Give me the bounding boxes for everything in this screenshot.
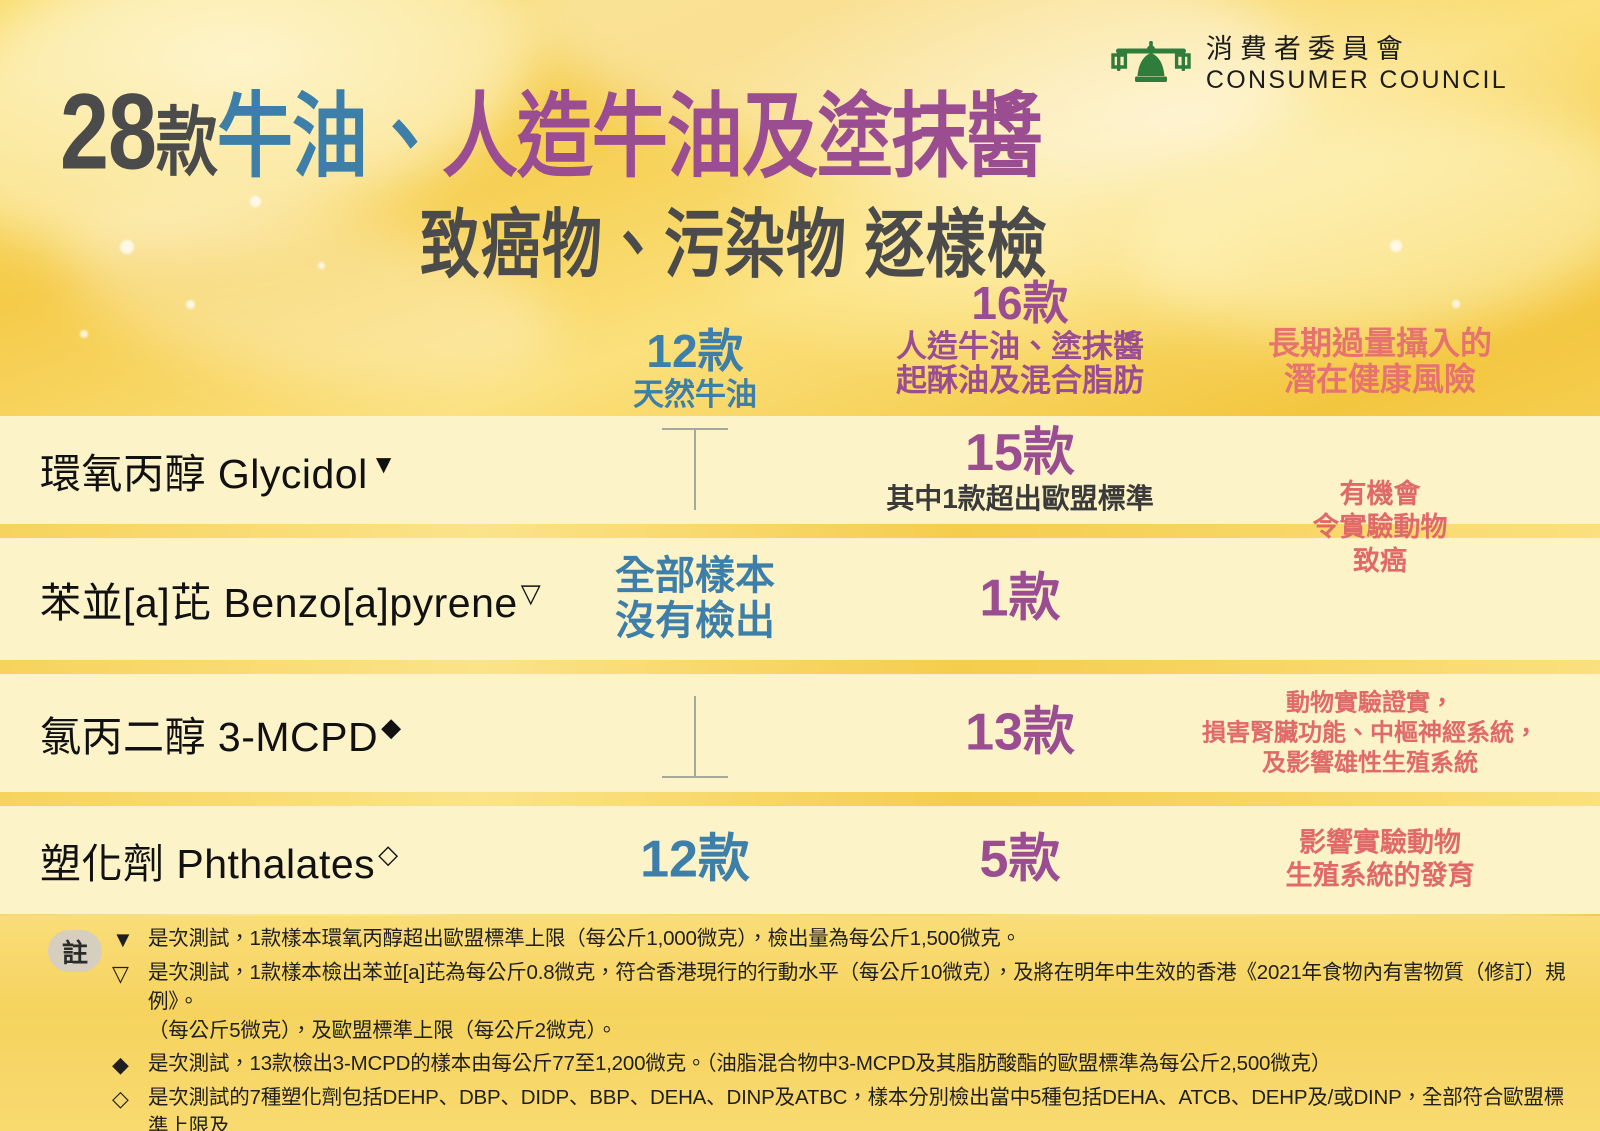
cell-margarine-benzo: 1款 xyxy=(820,570,1220,627)
footnote-text: 是次測試，13款檢出3-MCPD的樣本由每公斤77至1,200微克。（油脂混合物… xyxy=(148,1049,1331,1078)
footnote-marker-filled-diamond-icon: ◆ xyxy=(381,712,402,742)
row-label-text: 環氧丙醇 Glycidol xyxy=(40,451,368,497)
table-row: 氯丙二醇 3-MCPD◆ 13款 動物實驗證實， 損害腎臟功能、中樞神經系統， … xyxy=(0,674,1600,792)
infographic-poster: 消費者委員會 CONSUMER COUNCIL 28款牛油、人造牛油及塗抹醬 致… xyxy=(0,0,1600,1131)
column-header-natural-butter: 12款 天然牛油 xyxy=(560,326,830,412)
sample-count-unit: 款 xyxy=(156,101,217,185)
cell-value: 12款 xyxy=(560,831,830,888)
risk-line-2: 損害腎臟功能、中樞神經系統， xyxy=(1155,718,1585,748)
risk-cell-carcinogen: 有機會 令實驗動物 致癌 xyxy=(1215,478,1545,578)
table-row: 塑化劑 Phthalates◇ 12款 5款 影響實驗動物 生殖系統的發育 xyxy=(0,806,1600,914)
column-header-label-line1: 人造牛油、塗抹醬 xyxy=(820,330,1220,365)
footnote-text: 是次測試，1款樣本環氧丙醇超出歐盟標準上限（每公斤1,000微克），檢出量為每公… xyxy=(148,924,1021,953)
cell-note: 其中1款超出歐盟標準 xyxy=(820,484,1220,515)
list-item: ◇ 是次測試的7種塑化劑包括DEHP、DBP、DIDP、BBP、DEHA、DIN… xyxy=(112,1083,1584,1131)
row-label-glycidol: 環氧丙醇 Glycidol▼ xyxy=(40,440,397,500)
texture-speck xyxy=(1390,240,1402,252)
column-header-count: 16款 xyxy=(820,278,1220,330)
row-label-benzo-a-pyrene: 苯並[a]芘 Benzo[a]pyrene▽ xyxy=(40,569,541,629)
column-headers: 12款 天然牛油 16款 人造牛油、塗抹醬 起酥油及混合脂肪 長期過量攝入的 潛… xyxy=(0,268,1600,416)
footnote-symbol-open-triangle-icon: ▽ xyxy=(112,958,148,989)
column-header-label-line2: 起酥油及混合脂肪 xyxy=(820,364,1220,399)
not-tested-marker-inverted-t-icon xyxy=(687,696,703,778)
footnote-text: 是次測試，1款樣本檢出苯並[a]芘為每公斤0.8微克，符合香港現行的行動水平（每… xyxy=(148,958,1584,1045)
footnote-badge: 註 xyxy=(48,930,102,972)
column-header-margarine-spread: 16款 人造牛油、塗抹醬 起酥油及混合脂肪 xyxy=(820,278,1220,399)
row-label-text: 氯丙二醇 3-MCPD xyxy=(40,714,378,760)
column-header-health-risk: 長期過量攝入的 潛在健康風險 xyxy=(1215,326,1545,398)
row-label-3-mcpd: 氯丙二醇 3-MCPD◆ xyxy=(40,703,402,763)
footnote-text-line1: 是次測試，13款檢出3-MCPD的樣本由每公斤77至1,200微克。（油脂混合物… xyxy=(148,1052,1331,1075)
risk-line-3: 及影響雄性生殖系統 xyxy=(1155,748,1585,778)
footnote-list: ▼ 是次測試，1款樣本環氧丙醇超出歐盟標準上限（每公斤1,000微克），檢出量為… xyxy=(112,924,1584,1131)
footnote-marker-filled-triangle-icon: ▼ xyxy=(371,449,397,479)
not-tested-marker-t-icon xyxy=(687,428,703,510)
brand-text: 消費者委員會 CONSUMER COUNCIL xyxy=(1206,36,1508,93)
cell-butter-benzo: 全部樣本 沒有檢出 xyxy=(560,554,830,644)
cell-margarine-phthalates: 5款 xyxy=(820,831,1220,888)
brand-logo: 消費者委員會 CONSUMER COUNCIL xyxy=(1110,36,1508,93)
row-label-phthalates: 塑化劑 Phthalates◇ xyxy=(40,830,399,890)
footnote-text: 是次測試的7種塑化劑包括DEHP、DBP、DIDP、BBP、DEHA、DINP及… xyxy=(148,1083,1584,1131)
headline-category-butter: 牛油、 xyxy=(217,85,442,189)
risk-line-3: 致癌 xyxy=(1215,545,1545,578)
footnote-text-line1: 是次測試，1款樣本檢出苯並[a]芘為每公斤0.8微克，符合香港現行的行動水平（每… xyxy=(148,961,1565,1013)
list-item: ▽ 是次測試，1款樣本檢出苯並[a]芘為每公斤0.8微克，符合香港現行的行動水平… xyxy=(112,958,1584,1045)
page-title: 28款牛油、人造牛油及塗抹醬 致癌物、污染物 逐樣檢 xyxy=(60,78,1060,268)
cell-value: 15款 xyxy=(820,425,1220,482)
headline-line-1: 28款牛油、人造牛油及塗抹醬 xyxy=(60,78,1060,185)
cell-margarine-glycidol: 15款 其中1款超出歐盟標準 xyxy=(820,425,1220,515)
brand-name-zh: 消費者委員會 xyxy=(1206,36,1508,63)
sample-count: 28 xyxy=(60,71,156,192)
footnote-symbol-filled-triangle-icon: ▼ xyxy=(112,924,148,955)
balance-scale-icon xyxy=(1110,37,1192,93)
cell-risk-phthalates: 影響實驗動物 生殖系統的發育 xyxy=(1215,827,1545,894)
column-header-label: 天然牛油 xyxy=(560,378,830,413)
cell-value: 1款 xyxy=(820,570,1220,627)
column-header-label-line1: 長期過量攝入的 xyxy=(1215,326,1545,362)
cell-value-line2: 沒有檢出 xyxy=(560,599,830,644)
row-divider xyxy=(0,660,1600,674)
row-divider xyxy=(0,792,1600,806)
risk-line-1: 有機會 xyxy=(1215,478,1545,511)
footnote-marker-open-triangle-icon: ▽ xyxy=(521,578,542,608)
footnotes-section: 註 ▼ 是次測試，1款樣本環氧丙醇超出歐盟標準上限（每公斤1,000微克），檢出… xyxy=(0,916,1600,1131)
footnote-text-line1: 是次測試的7種塑化劑包括DEHP、DBP、DIDP、BBP、DEHA、DINP及… xyxy=(148,1086,1564,1131)
list-item: ▼ 是次測試，1款樣本環氧丙醇超出歐盟標準上限（每公斤1,000微克），檢出量為… xyxy=(112,924,1584,955)
cell-butter-phthalates: 12款 xyxy=(560,831,830,888)
risk-line-1: 影響實驗動物 xyxy=(1215,827,1545,860)
row-label-text: 塑化劑 Phthalates xyxy=(40,841,375,887)
risk-line-2: 令實驗動物 xyxy=(1215,511,1545,544)
cell-value-line1: 全部樣本 xyxy=(560,554,830,599)
headline-category-margarine: 人造牛油及塗抹醬 xyxy=(442,85,1042,189)
footnote-text-line2: （每公斤5微克），及歐盟標準上限（每公斤2微克）。 xyxy=(148,1016,1584,1045)
row-label-text: 苯並[a]芘 Benzo[a]pyrene xyxy=(40,580,518,626)
column-header-count: 12款 xyxy=(560,326,830,378)
list-item: ◆ 是次測試，13款檢出3-MCPD的樣本由每公斤77至1,200微克。（油脂混… xyxy=(112,1049,1584,1080)
footnote-text-line1: 是次測試，1款樣本環氧丙醇超出歐盟標準上限（每公斤1,000微克），檢出量為每公… xyxy=(148,927,1021,950)
column-header-label-line2: 潛在健康風險 xyxy=(1215,362,1545,398)
risk-line-1: 動物實驗證實， xyxy=(1155,688,1585,718)
cell-value: 5款 xyxy=(820,831,1220,888)
footnote-symbol-filled-diamond-icon: ◆ xyxy=(112,1049,148,1080)
footnote-symbol-open-diamond-icon: ◇ xyxy=(112,1083,148,1114)
risk-line-2: 生殖系統的發育 xyxy=(1215,860,1545,893)
brand-name-en: CONSUMER COUNCIL xyxy=(1206,68,1508,93)
footnote-marker-open-diamond-icon: ◇ xyxy=(378,839,399,869)
cell-risk-mcpd: 動物實驗證實， 損害腎臟功能、中樞神經系統， 及影響雄性生殖系統 xyxy=(1155,688,1585,777)
